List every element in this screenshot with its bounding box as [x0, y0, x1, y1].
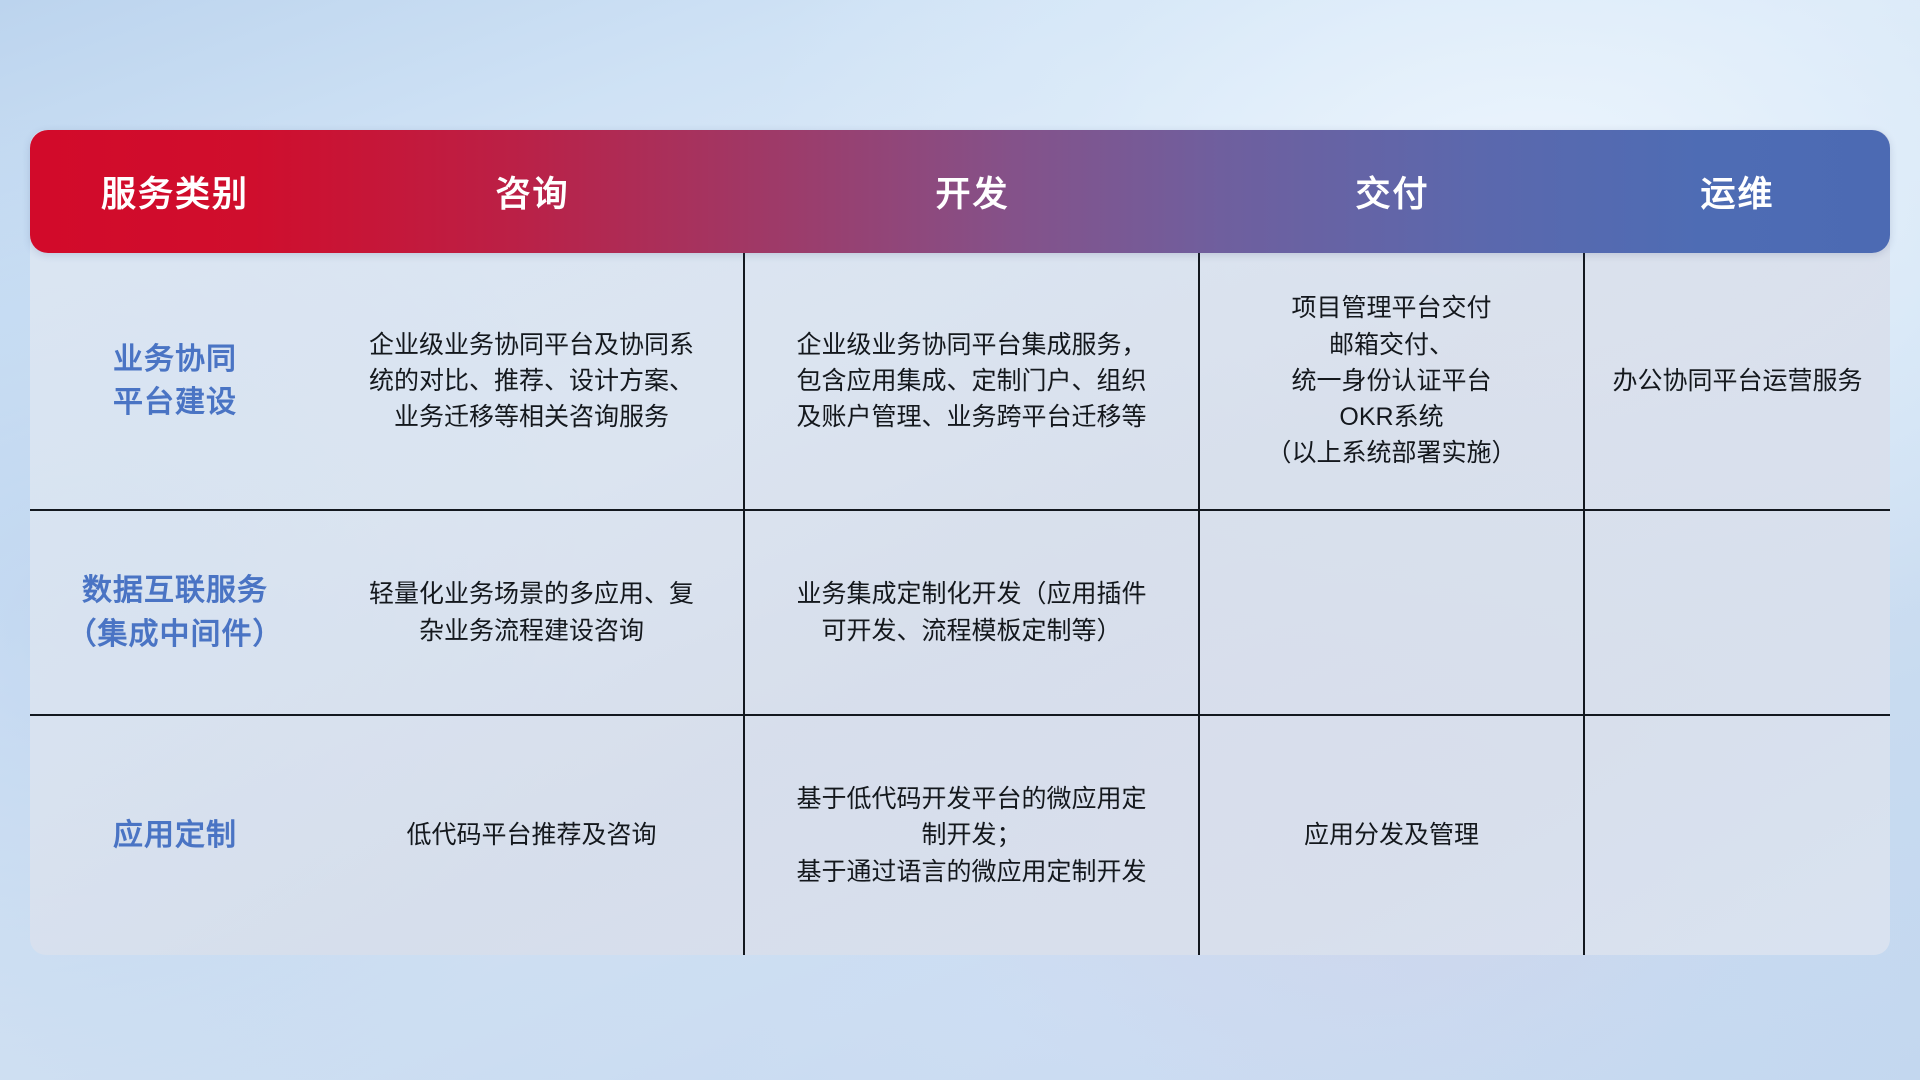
cell-development: 企业级业务协同平台集成服务， 包含应用集成、定制门户、组织 及账户管理、业务跨平… [745, 253, 1200, 509]
column-header-delivery: 交付 [1200, 166, 1585, 217]
cell-consulting: 轻量化业务场景的多应用、复 杂业务流程建设咨询 [320, 511, 745, 714]
service-matrix-table: 服务类别 咨询 开发 交付 运维 业务协同 平台建设 企业级业务协同平台及协同系… [30, 130, 1890, 955]
column-header-operations: 运维 [1585, 166, 1890, 217]
row-category-label: 数据互联服务 （集成中间件） [30, 511, 320, 714]
row-category-label: 业务协同 平台建设 [30, 253, 320, 509]
cell-development: 基于低代码开发平台的微应用定 制开发； 基于通过语言的微应用定制开发 [745, 716, 1200, 955]
table-header-row: 服务类别 咨询 开发 交付 运维 [30, 130, 1890, 253]
cell-operations [1585, 716, 1890, 955]
table-row: 业务协同 平台建设 企业级业务协同平台及协同系 统的对比、推荐、设计方案、 业务… [30, 253, 1890, 511]
cell-development: 业务集成定制化开发（应用插件 可开发、流程模板定制等） [745, 511, 1200, 714]
column-header-consulting: 咨询 [320, 166, 745, 217]
cell-consulting: 低代码平台推荐及咨询 [320, 716, 745, 955]
row-category-label: 应用定制 [30, 716, 320, 955]
cell-consulting: 企业级业务协同平台及协同系 统的对比、推荐、设计方案、 业务迁移等相关咨询服务 [320, 253, 745, 509]
cell-operations: 办公协同平台运营服务 [1585, 253, 1890, 509]
cell-delivery: 项目管理平台交付 邮箱交付、 统一身份认证平台 OKR系统 （以上系统部署实施） [1200, 253, 1585, 509]
table-grid: 业务协同 平台建设 企业级业务协同平台及协同系 统的对比、推荐、设计方案、 业务… [30, 253, 1890, 955]
cell-delivery: 应用分发及管理 [1200, 716, 1585, 955]
cell-operations [1585, 511, 1890, 714]
table-row: 数据互联服务 （集成中间件） 轻量化业务场景的多应用、复 杂业务流程建设咨询 业… [30, 511, 1890, 716]
cell-delivery [1200, 511, 1585, 714]
column-header-category: 服务类别 [30, 166, 320, 217]
column-header-development: 开发 [745, 166, 1200, 217]
table-row: 应用定制 低代码平台推荐及咨询 基于低代码开发平台的微应用定 制开发； 基于通过… [30, 716, 1890, 955]
